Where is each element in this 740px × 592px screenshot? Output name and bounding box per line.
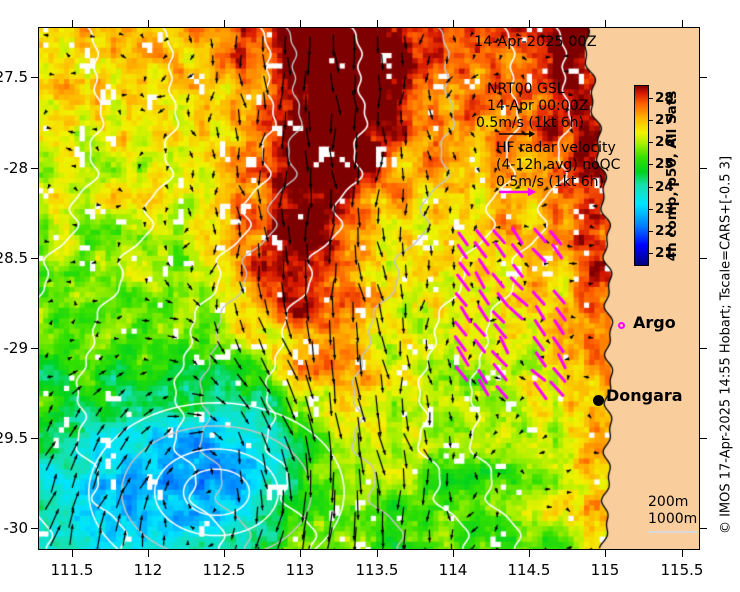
x-tick [453,550,454,557]
argo-marker-icon [618,322,625,329]
x-tick [72,20,73,27]
x-tick [377,20,378,27]
x-tick-label: 112 [108,561,188,579]
x-tick-label: 113 [260,561,340,579]
x-tick [682,20,683,27]
map-plot-area[interactable] [38,27,700,550]
reference-arrow-black-icon [497,128,537,140]
depth-key-line [648,531,698,533]
y-tick [31,348,38,349]
copyright-text: © IMOS 17-Apr-2025 14:55 Hobart; Tscale=… [719,156,734,534]
y-tick [700,168,707,169]
title-date: 14-Apr-2025 00Z [474,34,597,51]
y-tick-label: -30 [0,519,28,537]
colorbar-tick [649,253,653,254]
argo-label: Argo [633,313,676,332]
y-tick-label: -28 [0,159,28,177]
x-tick [605,20,606,27]
x-tick [224,550,225,557]
x-tick-label: 114.5 [489,561,569,579]
x-tick-label: 115.5 [642,561,722,579]
x-tick-label: 113.5 [337,561,417,579]
colorbar-tick [649,164,653,165]
y-tick-label: -29 [0,339,28,357]
colorbar-tick [649,231,653,232]
x-tick [300,20,301,27]
vector-overlay-layer [38,27,700,550]
colorbar-tick [649,142,653,143]
colorbar-tick [649,98,653,99]
y-tick [31,438,38,439]
annotation-line-2: 14-Apr 00:00Z [487,98,588,116]
depth-label-200m: 200m [648,494,688,510]
x-tick [377,550,378,557]
colorbar [634,85,649,266]
y-tick [700,528,707,529]
colorbar-title: 4h comp, p50, All Sats [664,91,680,262]
y-tick [700,348,707,349]
dongara-label: Dongara [606,386,683,405]
reference-arrow-magenta-icon [497,186,537,198]
annotation-line-5: (4-12h avg) noQC [496,157,620,175]
annotation-line-1: NRT00 GSL [487,81,565,99]
y-tick [700,438,707,439]
y-tick [31,77,38,78]
x-tick-label: 111.5 [32,561,112,579]
x-tick [605,550,606,557]
x-tick-label: 112.5 [184,561,264,579]
colorbar-tick [649,120,653,121]
y-tick [31,258,38,259]
x-tick [72,550,73,557]
x-tick [529,550,530,557]
y-tick [700,77,707,78]
y-tick [31,168,38,169]
annotation-line-4: HF radar velocity [496,140,616,158]
x-tick [453,20,454,27]
x-tick [148,550,149,557]
x-tick [300,550,301,557]
colorbar-tick [649,187,653,188]
colorbar-tick [649,209,653,210]
y-tick-label: -28.5 [0,249,28,267]
x-tick [224,20,225,27]
y-tick [700,258,707,259]
y-tick-label: -27.5 [0,68,28,86]
depth-label-1000m: 1000m [648,511,697,527]
dongara-marker-icon [593,395,604,406]
x-tick-label: 114 [413,561,493,579]
y-tick-label: -29.5 [0,429,28,447]
figure-root: 111.5112112.5113113.5114114.5115115.5 -2… [0,0,740,592]
x-tick [529,20,530,27]
colorbar-gradient [635,86,648,265]
x-tick [148,20,149,27]
y-tick [31,528,38,529]
x-tick [682,550,683,557]
x-tick-label: 115 [565,561,645,579]
